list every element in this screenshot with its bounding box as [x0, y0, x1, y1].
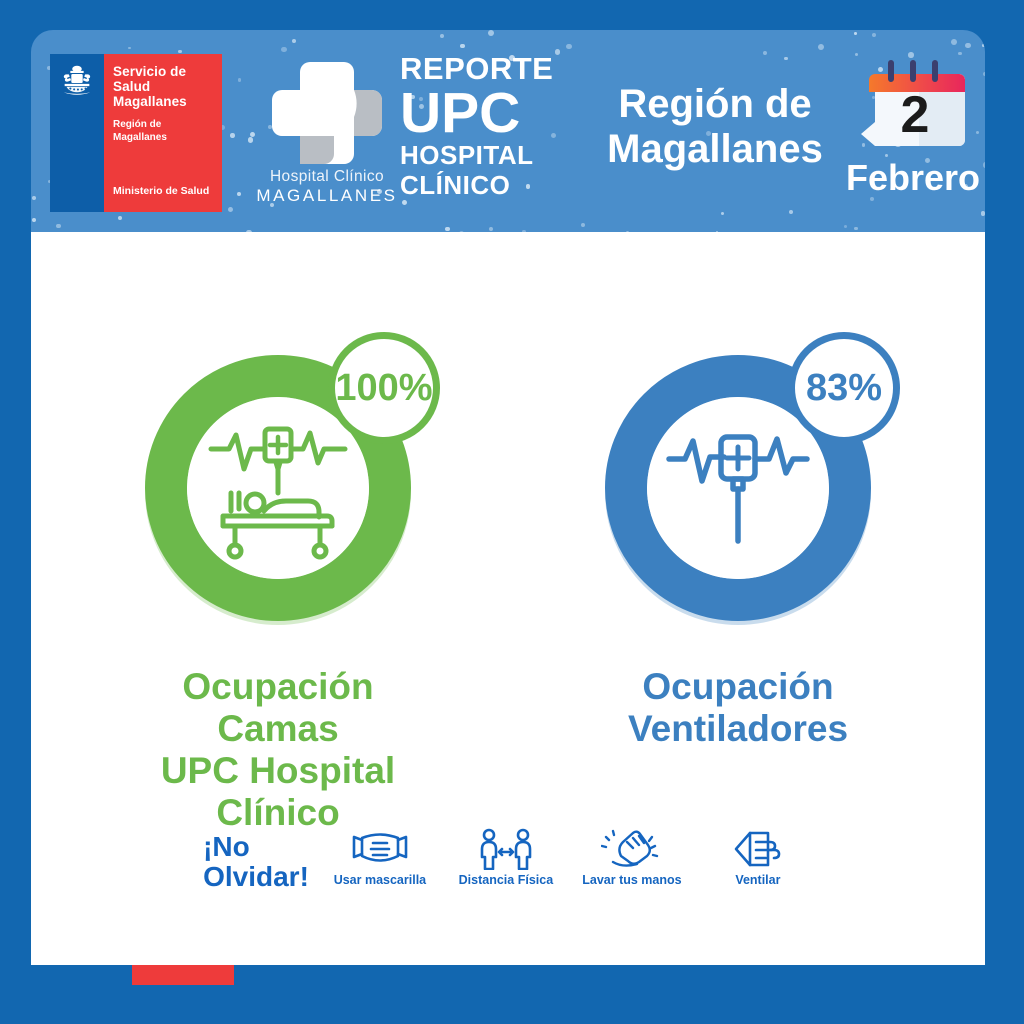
percent-badge-ventiladores: 83% — [788, 332, 900, 444]
prevention-item-ventilate: Ventilar — [703, 828, 813, 887]
report-title: REPORTE UPC HOSPITAL CLÍNICO — [400, 52, 553, 200]
calendar-month: Febrero — [838, 158, 988, 198]
ring-wrap-camas: 100% — [128, 340, 428, 640]
prevention-label-ventilate: Ventilar — [703, 873, 813, 887]
title-hospital: HOSPITAL — [400, 140, 553, 170]
gov-logo-block: Servicio de Salud Magallanes Región de M… — [50, 54, 222, 212]
ring-wrap-ventiladores: 83% — [588, 340, 888, 640]
flag-accent-blue — [62, 965, 132, 985]
ventilator-icon — [663, 415, 813, 565]
prevention-label-distance: Distancia Física — [451, 873, 561, 887]
prevention-strip: ¡No Olvidar! Usar mascarilla — [31, 828, 985, 892]
wash-hands-icon — [601, 828, 663, 870]
region-title: Región de Magallanes — [560, 82, 870, 172]
prevention-item-mask: Usar mascarilla — [325, 828, 435, 887]
prevention-item-distance: Distancia Física — [451, 828, 561, 887]
calendar-icon: 2 — [857, 52, 969, 156]
face-mask-icon — [349, 828, 411, 870]
hospital-bed-icon — [203, 415, 353, 565]
date-block: 2 Febrero — [838, 52, 988, 198]
percent-badge-camas: 100% — [328, 332, 440, 444]
title-clinico: CLÍNICO — [400, 170, 553, 200]
gov-text-panel: Servicio de Salud Magallanes Región de M… — [104, 54, 222, 212]
title-upc: UPC — [400, 86, 553, 140]
prevention-item-wash: Lavar tus manos — [577, 828, 687, 887]
physical-distance-icon — [477, 828, 535, 870]
prevention-label-wash: Lavar tus manos — [577, 873, 687, 887]
metric-label-camas: Ocupación Camas UPC Hospital Clínico — [128, 666, 428, 834]
metric-ventiladores: 83% Ocupación Ventiladores — [588, 340, 888, 834]
crest-panel — [50, 54, 104, 212]
prevention-heading: ¡No Olvidar! — [203, 828, 309, 892]
metrics-row: 100% Ocupación Camas UPC Hospital Clínic… — [31, 340, 985, 834]
poster-root: Servicio de Salud Magallanes Región de M… — [0, 0, 1024, 1024]
flag-accent-red — [132, 965, 234, 985]
flag-accent-bar — [62, 965, 234, 985]
metric-camas-upc: 100% Ocupación Camas UPC Hospital Clínic… — [128, 340, 428, 834]
calendar-day: 2 — [901, 86, 930, 144]
hospital-logo-block: Hospital Clínico MAGALLANES — [256, 58, 398, 214]
gov-ministry-name: Ministerio de Salud — [113, 185, 209, 198]
gov-region-name: Región de Magallanes — [113, 118, 216, 144]
medical-cross-logo-icon — [262, 58, 392, 164]
prevention-label-mask: Usar mascarilla — [325, 873, 435, 887]
chile-coat-of-arms-icon — [58, 62, 96, 100]
hospital-name-line1: Hospital Clínico — [256, 168, 398, 186]
hospital-name-line2: MAGALLANES — [256, 186, 398, 206]
ventilate-room-icon — [730, 828, 786, 870]
gov-service-name: Servicio de Salud Magallanes — [113, 64, 216, 109]
metric-label-ventiladores: Ocupación Ventiladores — [588, 666, 888, 750]
